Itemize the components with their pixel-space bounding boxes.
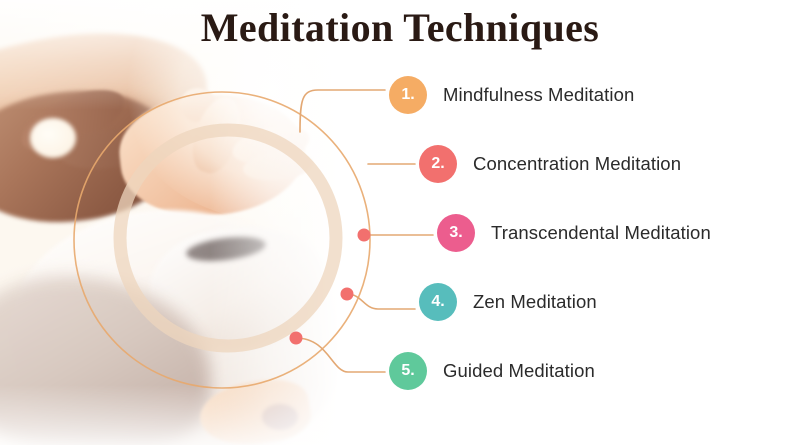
item-badge-1: 1. [389, 76, 427, 114]
item-badge-4: 4. [419, 283, 457, 321]
item-label-4: Zen Meditation [473, 291, 597, 313]
connector-line-4 [347, 294, 415, 309]
photo-fade-right [210, 0, 340, 445]
arc-dot-3 [358, 229, 371, 242]
list-item-2[interactable]: 2. Concentration Meditation [419, 145, 681, 183]
item-badge-5: 5. [389, 352, 427, 390]
item-badge-2: 2. [419, 145, 457, 183]
arc-dot-4 [341, 288, 354, 301]
item-label-5: Guided Meditation [443, 360, 595, 382]
item-badge-3: 3. [437, 214, 475, 252]
item-label-2: Concentration Meditation [473, 153, 681, 175]
item-label-3: Transcendental Meditation [491, 222, 711, 244]
meditation-photo [0, 0, 340, 445]
list-item-1[interactable]: 1. Mindfulness Meditation [389, 76, 634, 114]
item-label-1: Mindfulness Meditation [443, 84, 634, 106]
photo-mudra-gap [30, 118, 76, 158]
list-item-4[interactable]: 4. Zen Meditation [419, 283, 597, 321]
infographic-canvas: Meditation Techniques 1. Mindfulness Med… [0, 0, 800, 445]
list-item-3[interactable]: 3. Transcendental Meditation [437, 214, 711, 252]
list-item-5[interactable]: 5. Guided Meditation [389, 352, 595, 390]
page-title: Meditation Techniques [0, 4, 800, 51]
